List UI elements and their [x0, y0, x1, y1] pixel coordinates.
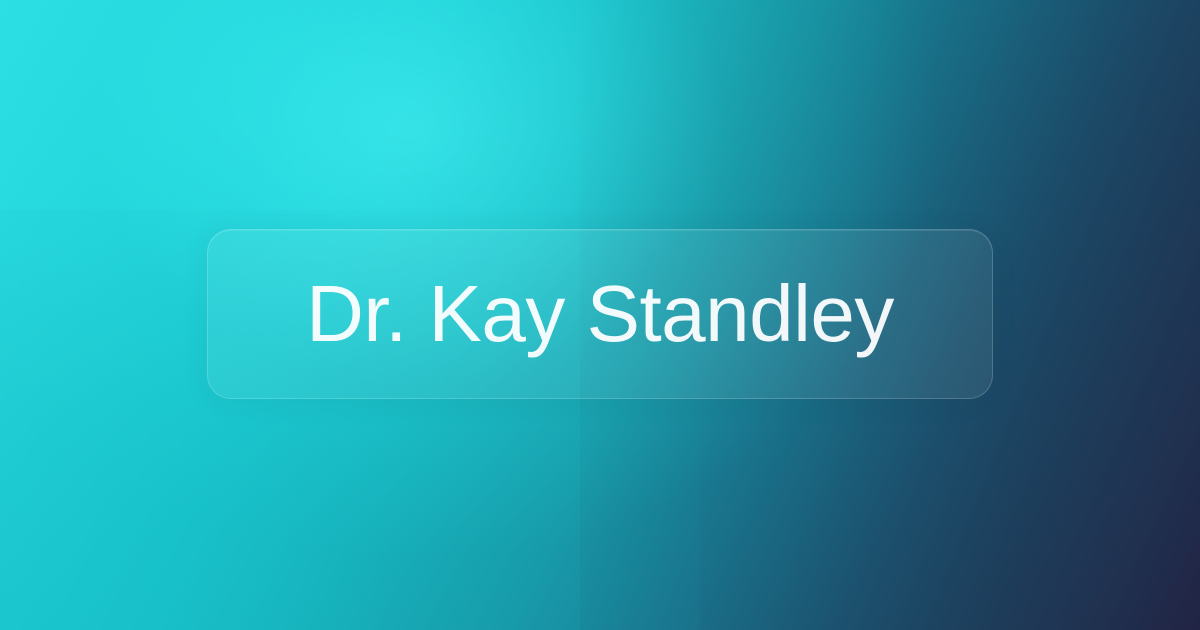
name-card: Dr. Kay Standley	[207, 229, 993, 399]
page-title: Dr. Kay Standley	[278, 274, 922, 354]
share-card-canvas: Dr. Kay Standley	[0, 0, 1200, 630]
